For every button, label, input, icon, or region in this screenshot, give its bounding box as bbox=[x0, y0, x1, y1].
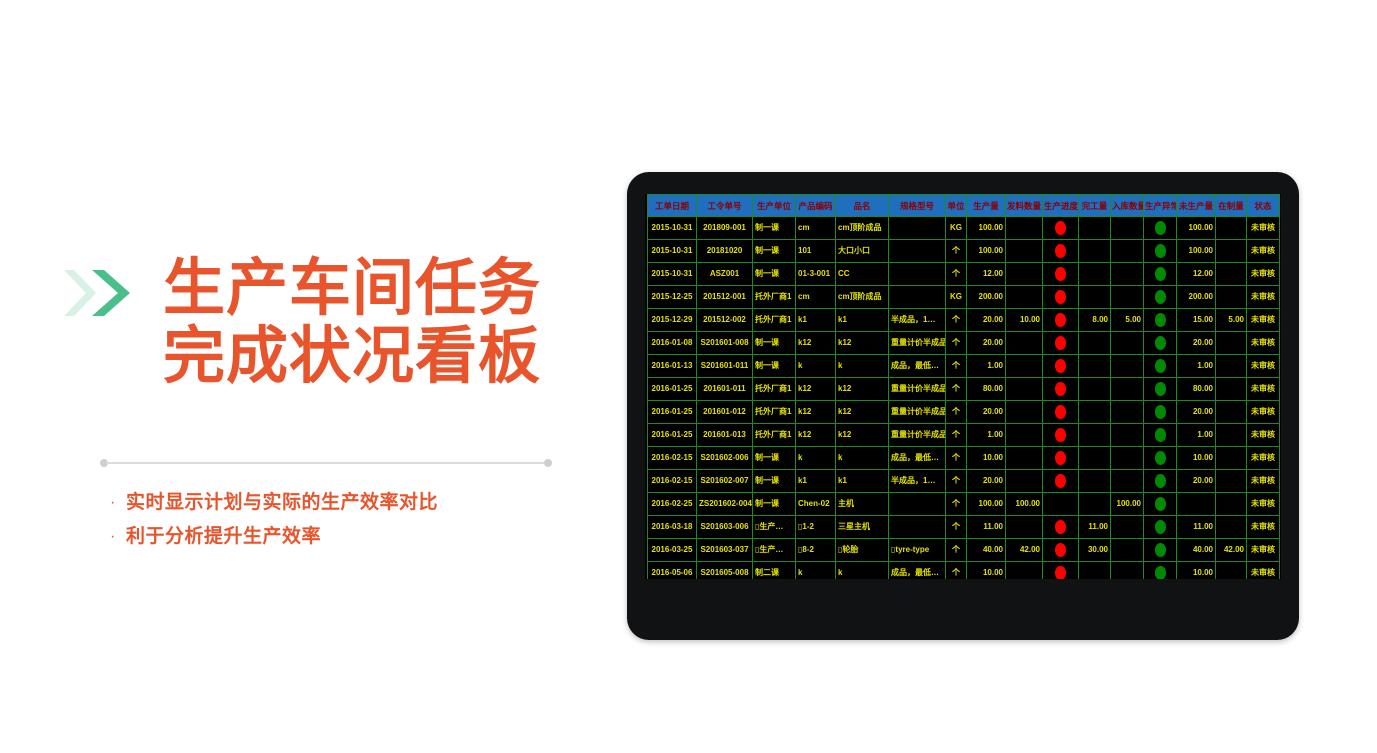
cell-3: Chen-02 bbox=[796, 493, 836, 516]
cell-10: 30.00 bbox=[1079, 539, 1111, 562]
column-header-14[interactable]: 在制量 bbox=[1216, 195, 1247, 217]
green-status-dot-icon bbox=[1155, 359, 1166, 373]
cell-2: ▯生产… bbox=[753, 539, 796, 562]
production-progress-indicator bbox=[1043, 332, 1079, 355]
cell-10 bbox=[1079, 378, 1111, 401]
cell-7: 200.00 bbox=[967, 286, 1006, 309]
table-row[interactable]: 2016-02-15S201602-006制一课kk成品，最低…个10.0010… bbox=[648, 447, 1280, 470]
divider-dot-right bbox=[544, 459, 552, 467]
column-header-10[interactable]: 完工量 bbox=[1079, 195, 1111, 217]
production-progress-indicator bbox=[1043, 263, 1079, 286]
production-kanban-table: 工单日期工令单号生产单位产品编码品名规格型号单位生产量发料数量生产进度完工量入库… bbox=[647, 194, 1280, 579]
cell-10 bbox=[1079, 332, 1111, 355]
cell-3: k bbox=[796, 447, 836, 470]
cell-14 bbox=[1216, 332, 1247, 355]
green-status-dot-icon bbox=[1155, 382, 1166, 396]
red-status-dot-icon bbox=[1055, 221, 1066, 235]
red-status-dot-icon bbox=[1055, 543, 1066, 557]
cell-7: 100.00 bbox=[967, 493, 1006, 516]
cell-1: S201601-008 bbox=[697, 332, 753, 355]
cell-15: 未审核 bbox=[1247, 470, 1280, 493]
cell-13: 100.00 bbox=[1177, 240, 1216, 263]
production-progress-indicator bbox=[1043, 309, 1079, 332]
cell-4: 主机 bbox=[836, 493, 889, 516]
cell-1: 201601-011 bbox=[697, 378, 753, 401]
cell-6: KG bbox=[946, 286, 967, 309]
cell-13: 200.00 bbox=[1177, 286, 1216, 309]
cell-8 bbox=[1006, 470, 1043, 493]
cell-1: 201512-002 bbox=[697, 309, 753, 332]
cell-4: k12 bbox=[836, 332, 889, 355]
cell-6: 个 bbox=[946, 309, 967, 332]
cell-8 bbox=[1006, 378, 1043, 401]
tablet-screen: 工单日期工令单号生产单位产品编码品名规格型号单位生产量发料数量生产进度完工量入库… bbox=[645, 194, 1281, 579]
cell-1: 201809-001 bbox=[697, 217, 753, 240]
cell-11 bbox=[1111, 424, 1144, 447]
production-progress-indicator bbox=[1043, 240, 1079, 263]
cell-8: 42.00 bbox=[1006, 539, 1043, 562]
cell-3: k bbox=[796, 355, 836, 378]
cell-8 bbox=[1006, 240, 1043, 263]
cell-2: 托外厂商1 bbox=[753, 424, 796, 447]
cell-13: 1.00 bbox=[1177, 424, 1216, 447]
cell-8 bbox=[1006, 447, 1043, 470]
production-progress-indicator bbox=[1043, 355, 1079, 378]
cell-3: 101 bbox=[796, 240, 836, 263]
green-status-dot-icon bbox=[1155, 520, 1166, 534]
cell-1: S201605-008 bbox=[697, 562, 753, 580]
cell-11: 100.00 bbox=[1111, 493, 1144, 516]
cell-0: 2015-10-31 bbox=[648, 263, 697, 286]
red-status-dot-icon bbox=[1055, 520, 1066, 534]
green-status-dot-icon bbox=[1155, 566, 1166, 579]
cell-10 bbox=[1079, 355, 1111, 378]
cell-6: 个 bbox=[946, 424, 967, 447]
cell-11 bbox=[1111, 378, 1144, 401]
cell-4: k12 bbox=[836, 424, 889, 447]
cell-5 bbox=[889, 263, 946, 286]
cell-10 bbox=[1079, 447, 1111, 470]
cell-15: 未审核 bbox=[1247, 309, 1280, 332]
cell-13 bbox=[1177, 493, 1216, 516]
cell-7: 20.00 bbox=[967, 309, 1006, 332]
production-exception-indicator bbox=[1144, 217, 1177, 240]
cell-10 bbox=[1079, 562, 1111, 580]
cell-3: k1 bbox=[796, 309, 836, 332]
cell-3: ▯1-2 bbox=[796, 516, 836, 539]
cell-15: 未审核 bbox=[1247, 332, 1280, 355]
cell-7: 20.00 bbox=[967, 401, 1006, 424]
table-row[interactable]: 2015-12-29201512-002托外厂商1k1k1半成品，1…个20.0… bbox=[648, 309, 1280, 332]
cell-8 bbox=[1006, 516, 1043, 539]
cell-14 bbox=[1216, 286, 1247, 309]
cell-13: 80.00 bbox=[1177, 378, 1216, 401]
slide-left-panel: 生产车间任务 完成状况看板 · 实时显示计划与实际的生产效率对比 · 利于分析提… bbox=[0, 0, 620, 753]
production-progress-indicator bbox=[1043, 378, 1079, 401]
cell-0: 2016-02-15 bbox=[648, 447, 697, 470]
cell-8 bbox=[1006, 217, 1043, 240]
cell-6: 个 bbox=[946, 378, 967, 401]
cell-2: 制一课 bbox=[753, 217, 796, 240]
red-status-dot-icon bbox=[1055, 451, 1066, 465]
cell-1: 20181020 bbox=[697, 240, 753, 263]
cell-7: 40.00 bbox=[967, 539, 1006, 562]
production-progress-indicator bbox=[1043, 401, 1079, 424]
cell-8 bbox=[1006, 562, 1043, 580]
cell-15: 未审核 bbox=[1247, 447, 1280, 470]
production-exception-indicator bbox=[1144, 240, 1177, 263]
cell-7: 20.00 bbox=[967, 470, 1006, 493]
cell-5: 半成品，1… bbox=[889, 309, 946, 332]
cell-4: 三星主机 bbox=[836, 516, 889, 539]
green-status-dot-icon bbox=[1155, 474, 1166, 488]
cell-4: k12 bbox=[836, 401, 889, 424]
green-status-dot-icon bbox=[1155, 221, 1166, 235]
table-row[interactable]: 2016-01-25201601-013托外厂商1k12k12重量计价半成品个1… bbox=[648, 424, 1280, 447]
cell-3: ▯8-2 bbox=[796, 539, 836, 562]
cell-10 bbox=[1079, 240, 1111, 263]
cell-1: S201603-006 bbox=[697, 516, 753, 539]
cell-11 bbox=[1111, 217, 1144, 240]
cell-5: 半成品，1… bbox=[889, 470, 946, 493]
table-row[interactable]: 2016-01-08S201601-008制一课k12k12重量计价半成品个20… bbox=[648, 332, 1280, 355]
cell-5 bbox=[889, 516, 946, 539]
cell-15: 未审核 bbox=[1247, 493, 1280, 516]
bullet-text: 利于分析提升生产效率 bbox=[126, 524, 321, 550]
cell-1: S201603-037 bbox=[697, 539, 753, 562]
cell-2: 制一课 bbox=[753, 493, 796, 516]
cell-5: 成品，最低… bbox=[889, 447, 946, 470]
cell-1: S201602-007 bbox=[697, 470, 753, 493]
cell-0: 2016-05-06 bbox=[648, 562, 697, 580]
cell-11 bbox=[1111, 562, 1144, 580]
production-progress-indicator bbox=[1043, 562, 1079, 580]
cell-2: 制一课 bbox=[753, 447, 796, 470]
column-header-2[interactable]: 生产单位 bbox=[753, 195, 796, 217]
cell-3: 01-3-001 bbox=[796, 263, 836, 286]
column-header-3[interactable]: 产品编码 bbox=[796, 195, 836, 217]
cell-10: 8.00 bbox=[1079, 309, 1111, 332]
red-status-dot-icon bbox=[1055, 290, 1066, 304]
cell-0: 2016-02-25 bbox=[648, 493, 697, 516]
cell-14: 5.00 bbox=[1216, 309, 1247, 332]
double-chevron-icon bbox=[62, 266, 134, 320]
cell-2: 托外厂商1 bbox=[753, 378, 796, 401]
cell-6: 个 bbox=[946, 355, 967, 378]
cell-7: 20.00 bbox=[967, 332, 1006, 355]
cell-15: 未审核 bbox=[1247, 355, 1280, 378]
production-exception-indicator bbox=[1144, 401, 1177, 424]
green-status-dot-icon bbox=[1155, 244, 1166, 258]
cell-13: 12.00 bbox=[1177, 263, 1216, 286]
cell-14 bbox=[1216, 263, 1247, 286]
cell-14 bbox=[1216, 401, 1247, 424]
red-status-dot-icon bbox=[1055, 267, 1066, 281]
cell-4: k1 bbox=[836, 309, 889, 332]
cell-3: cm bbox=[796, 217, 836, 240]
cell-15: 未审核 bbox=[1247, 401, 1280, 424]
cell-5: 重量计价半成品 bbox=[889, 401, 946, 424]
page-title-line-1: 生产车间任务 bbox=[163, 255, 593, 323]
cell-15: 未审核 bbox=[1247, 240, 1280, 263]
production-progress-indicator bbox=[1043, 539, 1079, 562]
cell-8 bbox=[1006, 401, 1043, 424]
cell-4: k12 bbox=[836, 378, 889, 401]
cell-0: 2016-01-25 bbox=[648, 424, 697, 447]
cell-0: 2016-03-25 bbox=[648, 539, 697, 562]
cell-14 bbox=[1216, 562, 1247, 580]
page-title-line-2: 完成状况看板 bbox=[163, 323, 593, 391]
cell-2: 托外厂商1 bbox=[753, 401, 796, 424]
cell-6: 个 bbox=[946, 516, 967, 539]
cell-6: 个 bbox=[946, 401, 967, 424]
cell-0: 2015-10-31 bbox=[648, 217, 697, 240]
red-status-dot-icon bbox=[1055, 428, 1066, 442]
cell-0: 2015-12-29 bbox=[648, 309, 697, 332]
production-exception-indicator bbox=[1144, 447, 1177, 470]
cell-6: 个 bbox=[946, 447, 967, 470]
production-exception-indicator bbox=[1144, 355, 1177, 378]
column-header-1[interactable]: 工令单号 bbox=[697, 195, 753, 217]
production-exception-indicator bbox=[1144, 562, 1177, 580]
cell-6: 个 bbox=[946, 332, 967, 355]
cell-8 bbox=[1006, 263, 1043, 286]
cell-11 bbox=[1111, 332, 1144, 355]
column-header-8[interactable]: 发料数量 bbox=[1006, 195, 1043, 217]
table-row[interactable]: 2016-03-25S201603-037▯生产…▯8-2▯轮胎▯tyre-ty… bbox=[648, 539, 1280, 562]
green-status-dot-icon bbox=[1155, 336, 1166, 350]
cell-3: cm bbox=[796, 286, 836, 309]
table-row[interactable]: 2016-01-25201601-011托外厂商1k12k12重量计价半成品个8… bbox=[648, 378, 1280, 401]
production-exception-indicator bbox=[1144, 263, 1177, 286]
cell-14 bbox=[1216, 355, 1247, 378]
cell-0: 2015-12-25 bbox=[648, 286, 697, 309]
cell-4: k bbox=[836, 355, 889, 378]
bullet-marker-icon: · bbox=[110, 524, 126, 550]
green-status-dot-icon bbox=[1155, 428, 1166, 442]
cell-14 bbox=[1216, 516, 1247, 539]
cell-8: 100.00 bbox=[1006, 493, 1043, 516]
cell-8 bbox=[1006, 286, 1043, 309]
column-header-13[interactable]: 未生产量 bbox=[1177, 195, 1216, 217]
cell-2: 制一课 bbox=[753, 470, 796, 493]
cell-1: S201602-006 bbox=[697, 447, 753, 470]
table-row[interactable]: 2016-02-25ZS201602-004制一课Chen-02主机个100.0… bbox=[648, 493, 1280, 516]
cell-13: 100.00 bbox=[1177, 217, 1216, 240]
cell-6: 个 bbox=[946, 263, 967, 286]
cell-15: 未审核 bbox=[1247, 378, 1280, 401]
production-exception-indicator bbox=[1144, 424, 1177, 447]
production-exception-indicator bbox=[1144, 470, 1177, 493]
green-status-dot-icon bbox=[1155, 543, 1166, 557]
cell-1: ASZ001 bbox=[697, 263, 753, 286]
production-progress-indicator bbox=[1043, 516, 1079, 539]
cell-0: 2016-03-18 bbox=[648, 516, 697, 539]
cell-11 bbox=[1111, 240, 1144, 263]
production-exception-indicator bbox=[1144, 516, 1177, 539]
cell-2: 制一课 bbox=[753, 263, 796, 286]
table-row[interactable]: 2016-03-18S201603-006▯生产…▯1-2三星主机个11.001… bbox=[648, 516, 1280, 539]
tablet-device-frame: 工单日期工令单号生产单位产品编码品名规格型号单位生产量发料数量生产进度完工量入库… bbox=[627, 172, 1299, 640]
cell-14 bbox=[1216, 378, 1247, 401]
cell-8: 10.00 bbox=[1006, 309, 1043, 332]
table-body: 2015-10-31201809-001制一课cmcm顶阶成品KG100.001… bbox=[648, 217, 1280, 580]
cell-7: 1.00 bbox=[967, 355, 1006, 378]
cell-14 bbox=[1216, 447, 1247, 470]
cell-8 bbox=[1006, 332, 1043, 355]
table-header: 工单日期工令单号生产单位产品编码品名规格型号单位生产量发料数量生产进度完工量入库… bbox=[648, 195, 1280, 217]
table-row[interactable]: 2016-01-13S201601-011制一课kk成品，最低…个1.001.0… bbox=[648, 355, 1280, 378]
column-header-6[interactable]: 单位 bbox=[946, 195, 967, 217]
cell-11 bbox=[1111, 539, 1144, 562]
cell-7: 100.00 bbox=[967, 217, 1006, 240]
production-progress-indicator bbox=[1043, 424, 1079, 447]
cell-3: k12 bbox=[796, 378, 836, 401]
cell-4: k bbox=[836, 562, 889, 580]
cell-13: 20.00 bbox=[1177, 332, 1216, 355]
production-progress-indicator bbox=[1043, 217, 1079, 240]
cell-15: 未审核 bbox=[1247, 217, 1280, 240]
production-exception-indicator bbox=[1144, 539, 1177, 562]
cell-13: 20.00 bbox=[1177, 470, 1216, 493]
cell-5: 成品，最低… bbox=[889, 562, 946, 580]
green-status-dot-icon bbox=[1155, 497, 1166, 511]
column-header-5[interactable]: 规格型号 bbox=[889, 195, 946, 217]
production-exception-indicator bbox=[1144, 332, 1177, 355]
table-row[interactable]: 2016-01-25201601-012托外厂商1k12k12重量计价半成品个2… bbox=[648, 401, 1280, 424]
table-row[interactable]: 2015-10-31ASZ001制一课01-3-001CC个12.0012.00… bbox=[648, 263, 1280, 286]
cell-6: 个 bbox=[946, 470, 967, 493]
production-exception-indicator bbox=[1144, 493, 1177, 516]
green-status-dot-icon bbox=[1155, 267, 1166, 281]
cell-2: 制一课 bbox=[753, 240, 796, 263]
production-progress-indicator bbox=[1043, 286, 1079, 309]
cell-2: 制二课 bbox=[753, 562, 796, 580]
cell-14 bbox=[1216, 217, 1247, 240]
red-status-dot-icon bbox=[1055, 566, 1066, 579]
cell-0: 2016-02-15 bbox=[648, 470, 697, 493]
cell-5 bbox=[889, 240, 946, 263]
red-status-dot-icon bbox=[1055, 382, 1066, 396]
cell-0: 2015-10-31 bbox=[648, 240, 697, 263]
production-exception-indicator bbox=[1144, 378, 1177, 401]
list-item: · 利于分析提升生产效率 bbox=[110, 524, 590, 550]
cell-10 bbox=[1079, 424, 1111, 447]
bullet-marker-icon: · bbox=[110, 490, 126, 516]
cell-1: 201601-012 bbox=[697, 401, 753, 424]
production-exception-indicator bbox=[1144, 286, 1177, 309]
cell-14: 42.00 bbox=[1216, 539, 1247, 562]
table-row[interactable]: 2015-10-31201809-001制一课cmcm顶阶成品KG100.001… bbox=[648, 217, 1280, 240]
cell-13: 11.00 bbox=[1177, 516, 1216, 539]
red-status-dot-icon bbox=[1055, 405, 1066, 419]
column-header-9[interactable]: 生产进度 bbox=[1043, 195, 1079, 217]
cell-6: 个 bbox=[946, 539, 967, 562]
cell-8 bbox=[1006, 424, 1043, 447]
table-header-row: 工单日期工令单号生产单位产品编码品名规格型号单位生产量发料数量生产进度完工量入库… bbox=[648, 195, 1280, 217]
table-row[interactable]: 2016-05-06S201605-008制二课kk成品，最低…个10.0010… bbox=[648, 562, 1280, 580]
cell-5 bbox=[889, 217, 946, 240]
column-header-7[interactable]: 生产量 bbox=[967, 195, 1006, 217]
cell-13: 20.00 bbox=[1177, 401, 1216, 424]
column-header-0[interactable]: 工单日期 bbox=[648, 195, 697, 217]
red-status-dot-icon bbox=[1055, 313, 1066, 327]
cell-14 bbox=[1216, 493, 1247, 516]
cell-0: 2016-01-25 bbox=[648, 378, 697, 401]
cell-15: 未审核 bbox=[1247, 562, 1280, 580]
cell-4: k1 bbox=[836, 470, 889, 493]
cell-6: 个 bbox=[946, 562, 967, 580]
cell-15: 未审核 bbox=[1247, 286, 1280, 309]
list-item: · 实时显示计划与实际的生产效率对比 bbox=[110, 490, 590, 516]
cell-10 bbox=[1079, 217, 1111, 240]
cell-7: 10.00 bbox=[967, 447, 1006, 470]
cell-13: 1.00 bbox=[1177, 355, 1216, 378]
cell-14 bbox=[1216, 240, 1247, 263]
green-status-dot-icon bbox=[1155, 313, 1166, 327]
bullet-text: 实时显示计划与实际的生产效率对比 bbox=[126, 490, 438, 516]
green-status-dot-icon bbox=[1155, 405, 1166, 419]
cell-3: k12 bbox=[796, 332, 836, 355]
cell-2: 制一课 bbox=[753, 355, 796, 378]
cell-13: 10.00 bbox=[1177, 562, 1216, 580]
cell-5: 重量计价半成品 bbox=[889, 378, 946, 401]
cell-3: k12 bbox=[796, 401, 836, 424]
production-progress-indicator bbox=[1043, 470, 1079, 493]
cell-11 bbox=[1111, 286, 1144, 309]
cell-13: 40.00 bbox=[1177, 539, 1216, 562]
cell-4: cm顶阶成品 bbox=[836, 286, 889, 309]
cell-13: 15.00 bbox=[1177, 309, 1216, 332]
cell-10 bbox=[1079, 470, 1111, 493]
column-header-15[interactable]: 状态 bbox=[1247, 195, 1280, 217]
red-status-dot-icon bbox=[1055, 359, 1066, 373]
cell-3: k1 bbox=[796, 470, 836, 493]
cell-7: 12.00 bbox=[967, 263, 1006, 286]
cell-10 bbox=[1079, 493, 1111, 516]
cell-14 bbox=[1216, 470, 1247, 493]
cell-13: 10.00 bbox=[1177, 447, 1216, 470]
production-progress-indicator bbox=[1043, 447, 1079, 470]
cell-11 bbox=[1111, 470, 1144, 493]
cell-11 bbox=[1111, 355, 1144, 378]
column-header-4[interactable]: 品名 bbox=[836, 195, 889, 217]
cell-1: 201601-013 bbox=[697, 424, 753, 447]
green-status-dot-icon bbox=[1155, 451, 1166, 465]
cell-11 bbox=[1111, 401, 1144, 424]
cell-1: 201512-001 bbox=[697, 286, 753, 309]
table-row[interactable]: 2016-02-15S201602-007制一课k1k1半成品，1…个20.00… bbox=[648, 470, 1280, 493]
green-status-dot-icon bbox=[1155, 290, 1166, 304]
cell-14 bbox=[1216, 424, 1247, 447]
column-header-11[interactable]: 入库数量 bbox=[1111, 195, 1144, 217]
table-row[interactable]: 2015-10-3120181020制一课101大口小口个100.00100.0… bbox=[648, 240, 1280, 263]
cell-7: 100.00 bbox=[967, 240, 1006, 263]
cell-11 bbox=[1111, 447, 1144, 470]
cell-5 bbox=[889, 286, 946, 309]
cell-0: 2016-01-25 bbox=[648, 401, 697, 424]
divider-line bbox=[106, 462, 546, 464]
cell-6: 个 bbox=[946, 240, 967, 263]
column-header-12[interactable]: 生产异常 bbox=[1144, 195, 1177, 217]
table-row[interactable]: 2015-12-25201512-001托外厂商1cmcm顶阶成品KG200.0… bbox=[648, 286, 1280, 309]
cell-6: KG bbox=[946, 217, 967, 240]
cell-15: 未审核 bbox=[1247, 424, 1280, 447]
cell-11: 5.00 bbox=[1111, 309, 1144, 332]
cell-11 bbox=[1111, 516, 1144, 539]
cell-4: ▯轮胎 bbox=[836, 539, 889, 562]
cell-3: k bbox=[796, 562, 836, 580]
